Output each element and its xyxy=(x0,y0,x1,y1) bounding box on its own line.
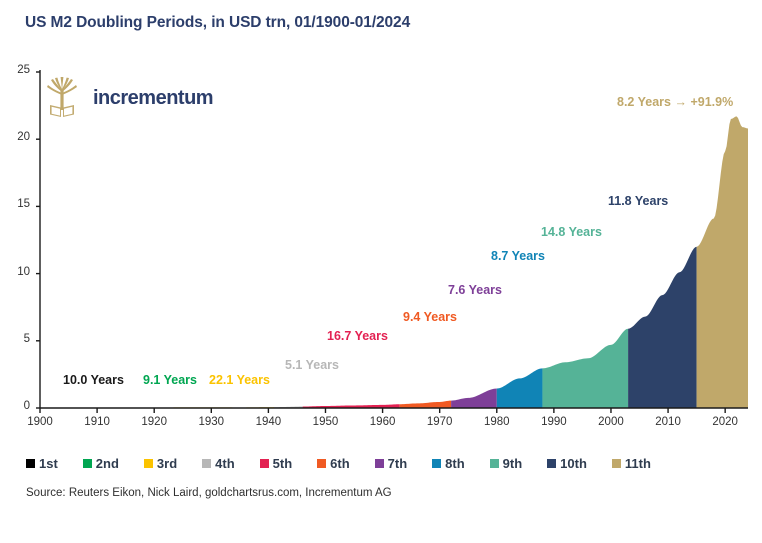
legend-swatch-icon xyxy=(375,459,384,468)
page-title: US M2 Doubling Periods, in USD trn, 01/1… xyxy=(25,14,410,32)
annotation-label: 8.7 Years xyxy=(491,249,545,263)
legend-label: 10th xyxy=(560,456,587,471)
annotation-label: 9.4 Years xyxy=(403,310,457,324)
area-segment-9th xyxy=(542,329,628,408)
x-tick-label: 2010 xyxy=(645,416,691,428)
annotation-label: 16.7 Years xyxy=(327,329,388,343)
brand-name: incrementum xyxy=(93,87,213,110)
annotation-label: 10.0 Years xyxy=(63,373,124,387)
y-tick-label: 20 xyxy=(4,131,30,143)
annotation-label: 9.1 Years xyxy=(143,373,197,387)
chart-container: US M2 Doubling Periods, in USD trn, 01/1… xyxy=(0,0,762,543)
annotation-label: 14.8 Years xyxy=(541,225,602,239)
chart-legend: 1st2nd3rd4th5th6th7th8th9th10th11th xyxy=(26,452,742,474)
x-tick-label: 1930 xyxy=(188,416,234,428)
brand-logo: incrementum xyxy=(42,76,213,120)
legend-swatch-icon xyxy=(202,459,211,468)
source-note: Source: Reuters Eikon, Nick Laird, goldc… xyxy=(26,487,392,499)
x-tick-label: 1940 xyxy=(245,416,291,428)
legend-item-7th[interactable]: 7th xyxy=(375,456,408,471)
y-tick-label: 15 xyxy=(4,198,30,210)
legend-swatch-icon xyxy=(26,459,35,468)
y-tick-label: 5 xyxy=(4,333,30,345)
legend-item-6th[interactable]: 6th xyxy=(317,456,350,471)
x-tick-label: 1950 xyxy=(302,416,348,428)
legend-label: 2nd xyxy=(96,456,119,471)
legend-swatch-icon xyxy=(83,459,92,468)
area-segment-7th xyxy=(451,389,497,408)
x-tick-label: 1960 xyxy=(360,416,406,428)
legend-swatch-icon xyxy=(260,459,269,468)
legend-item-5th[interactable]: 5th xyxy=(260,456,293,471)
area-segment-8th xyxy=(497,368,543,408)
tree-book-logo-icon xyxy=(42,76,82,120)
x-tick-label: 1970 xyxy=(417,416,463,428)
legend-item-3rd[interactable]: 3rd xyxy=(144,456,177,471)
legend-item-4th[interactable]: 4th xyxy=(202,456,235,471)
legend-swatch-icon xyxy=(490,459,499,468)
x-tick-label: 1900 xyxy=(17,416,63,428)
legend-item-1st[interactable]: 1st xyxy=(26,456,58,471)
annotation-label: 8.2 Years → +91.9% xyxy=(617,95,733,109)
legend-swatch-icon xyxy=(317,459,326,468)
legend-label: 4th xyxy=(215,456,235,471)
x-tick-label: 1980 xyxy=(474,416,520,428)
legend-label: 5th xyxy=(273,456,293,471)
annotation-label: 22.1 Years xyxy=(209,373,270,387)
legend-swatch-icon xyxy=(432,459,441,468)
legend-label: 1st xyxy=(39,456,58,471)
annotation-label: 11.8 Years xyxy=(608,194,668,208)
legend-label: 8th xyxy=(445,456,465,471)
legend-item-9th[interactable]: 9th xyxy=(490,456,523,471)
x-tick-label: 1920 xyxy=(131,416,177,428)
y-tick-label: 25 xyxy=(4,64,30,76)
x-tick-label: 2000 xyxy=(588,416,634,428)
area-segment-10th xyxy=(628,247,697,408)
legend-item-8th[interactable]: 8th xyxy=(432,456,465,471)
x-tick-label: 2020 xyxy=(702,416,748,428)
legend-label: 3rd xyxy=(157,456,177,471)
annotation-label: 5.1 Years xyxy=(285,358,339,372)
legend-item-10th[interactable]: 10th xyxy=(547,456,587,471)
legend-label: 11th xyxy=(625,456,651,471)
annotation-label: 7.6 Years xyxy=(448,283,502,297)
legend-swatch-icon xyxy=(547,459,556,468)
area-segment-11th xyxy=(697,116,748,408)
legend-swatch-icon xyxy=(612,459,621,468)
legend-item-11th[interactable]: 11th xyxy=(612,456,651,471)
area-segment-6th xyxy=(400,401,451,408)
legend-label: 7th xyxy=(388,456,408,471)
legend-label: 6th xyxy=(330,456,350,471)
x-tick-label: 1910 xyxy=(74,416,120,428)
legend-label: 9th xyxy=(503,456,523,471)
legend-swatch-icon xyxy=(144,459,153,468)
y-tick-label: 0 xyxy=(4,400,30,412)
legend-item-2nd[interactable]: 2nd xyxy=(83,456,119,471)
area-series-layer xyxy=(40,116,748,408)
y-tick-label: 10 xyxy=(4,266,30,278)
x-tick-label: 1990 xyxy=(531,416,577,428)
